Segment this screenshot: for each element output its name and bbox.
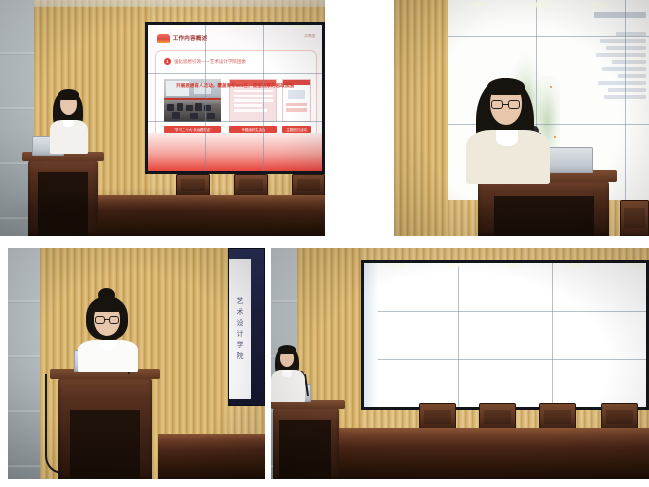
microphone-cable [45,374,63,474]
podium-front-panel [494,196,594,236]
collar [63,120,74,127]
laptop[interactable] [548,147,593,173]
chair [419,403,456,430]
speaker-4 [271,344,307,402]
photo-bottom-left[interactable]: 艺术设计学院 [8,248,265,479]
photo-top-left[interactable]: 工作内容概述 共青团 1 强化思想引领——艺术设计学院团委 [0,0,325,236]
side-display-screen: 艺术设计学院 [228,248,265,406]
section-heading: 强化思想引领——艺术设计学院团委 [174,59,246,65]
hair-top [58,89,79,100]
podium-front-panel [70,410,140,479]
led-video-wall: 工作内容概述 共青团 1 强化思想引领——艺术设计学院团委 [145,22,325,174]
slide-header: 工作内容概述 [157,34,208,43]
glasses-bridge [503,104,508,105]
chair [620,200,649,236]
ceiling-light-reflection [148,23,322,28]
wood-slat-wall [394,0,448,236]
head-table [337,436,649,479]
slide-brand: 共青团 [304,34,315,39]
glasses-left-lens [95,316,105,324]
glasses-left-lens [491,100,503,109]
speaker-2 [466,76,550,184]
photo-collage: 工作内容概述 共青团 1 强化思想引领——艺术设计学院团委 [0,0,649,487]
podium-front-panel [279,420,331,479]
chair [601,403,638,430]
glasses-right-lens [508,100,520,109]
slide-footer-text: 开展思想育人活动，覆盖青年681名，营造浓厚的思政氛围 [148,83,322,89]
slide-section-heading-row: 1 强化思想引领——艺术设计学院团委 [164,58,246,65]
side-screen-vertical-text: 艺术设计学院 [234,297,244,363]
hair-top [487,78,525,95]
hair-top [278,345,296,354]
chair [539,403,576,430]
glasses-bridge [105,319,109,320]
presentation-slide: 工作内容概述 共青团 1 强化思想引领——艺术设计学院团委 [148,25,322,171]
collar [100,340,116,351]
stone-wall [8,248,40,479]
section-number-badge: 1 [164,58,171,65]
slide-tag-2: 主题团日活动 [282,126,311,133]
slide-footer-band [148,133,322,171]
speaker-3 [78,288,138,372]
chair [479,403,516,430]
slide-tag-1: 专题组织生活会 [229,126,277,133]
hair-fringe [92,299,122,312]
video-wall-grid [364,263,646,407]
slide-title: 工作内容概述 [173,34,208,42]
ceiling-strip [34,0,325,7]
slide-text-block [588,12,646,99]
slide-tag-0: "学习二十大·永远跟党走" [164,126,222,133]
led-video-wall [361,260,649,410]
photo-bottom-right[interactable] [271,248,649,479]
collar [496,130,518,146]
table-edge [337,428,649,436]
accent-dot [554,136,556,138]
accent-dot [550,86,552,88]
glasses-right-lens [109,316,119,324]
organization-logo-icon [157,34,170,43]
side-table [158,440,265,479]
photo-top-right[interactable] [394,0,649,236]
speaker-1 [46,88,92,154]
collar [282,370,292,377]
